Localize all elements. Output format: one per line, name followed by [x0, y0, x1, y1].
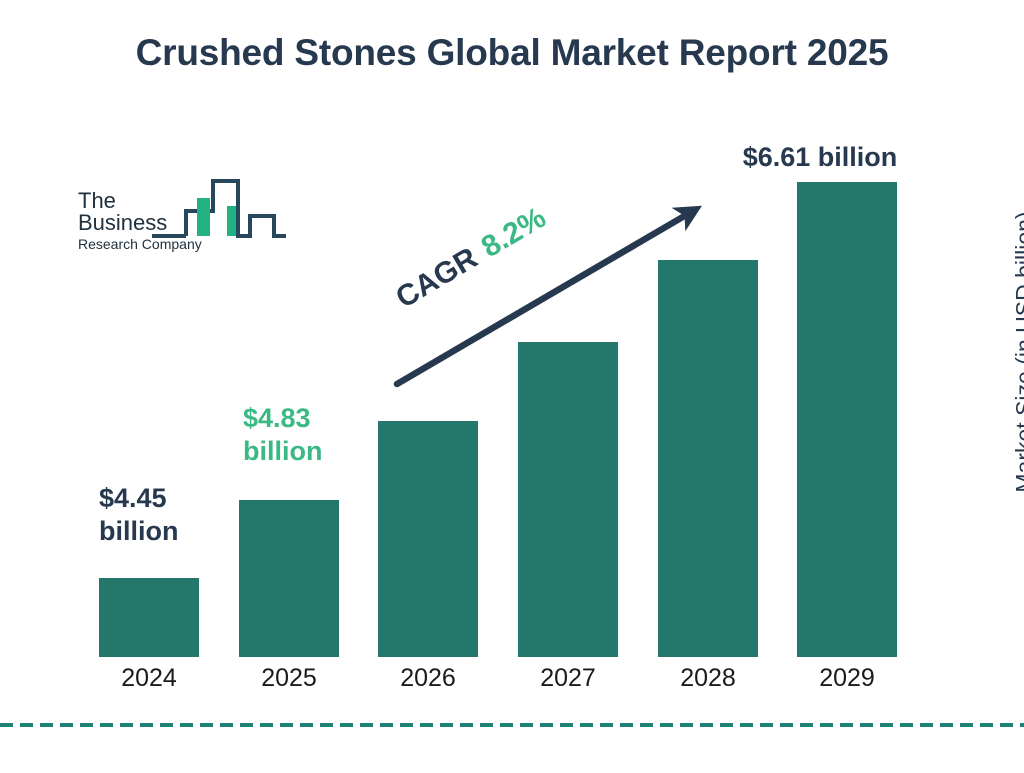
value-label-2024-line2: billion [99, 515, 229, 548]
chart-canvas: Crushed Stones Global Market Report 2025… [0, 0, 1024, 768]
value-label-2024: $4.45 billion [99, 482, 229, 548]
xtick-2027: 2027 [518, 664, 618, 693]
value-label-2025-line2: billion [243, 435, 373, 468]
xtick-2024: 2024 [99, 664, 199, 693]
bar-2025 [239, 500, 339, 657]
value-label-2024-line1: $4.45 [99, 482, 229, 515]
bar-2028 [658, 260, 758, 657]
value-label-2025-line1: $4.83 [243, 402, 373, 435]
y-axis-label: Market Size (in USD billion) [1011, 192, 1024, 512]
bar-2024 [99, 578, 199, 657]
bar-2027 [518, 342, 618, 657]
value-label-2029: $6.61 billion [700, 141, 940, 174]
xtick-2029: 2029 [797, 664, 897, 693]
bar-2026 [378, 421, 478, 657]
xtick-2026: 2026 [378, 664, 478, 693]
bottom-divider [0, 723, 1024, 727]
bar-2029 [797, 182, 897, 657]
value-label-2025: $4.83 billion [243, 402, 373, 468]
plot-area: 2024 2025 2026 2027 2028 2029 [0, 0, 1024, 768]
xtick-2025: 2025 [239, 664, 339, 693]
xtick-2028: 2028 [658, 664, 758, 693]
